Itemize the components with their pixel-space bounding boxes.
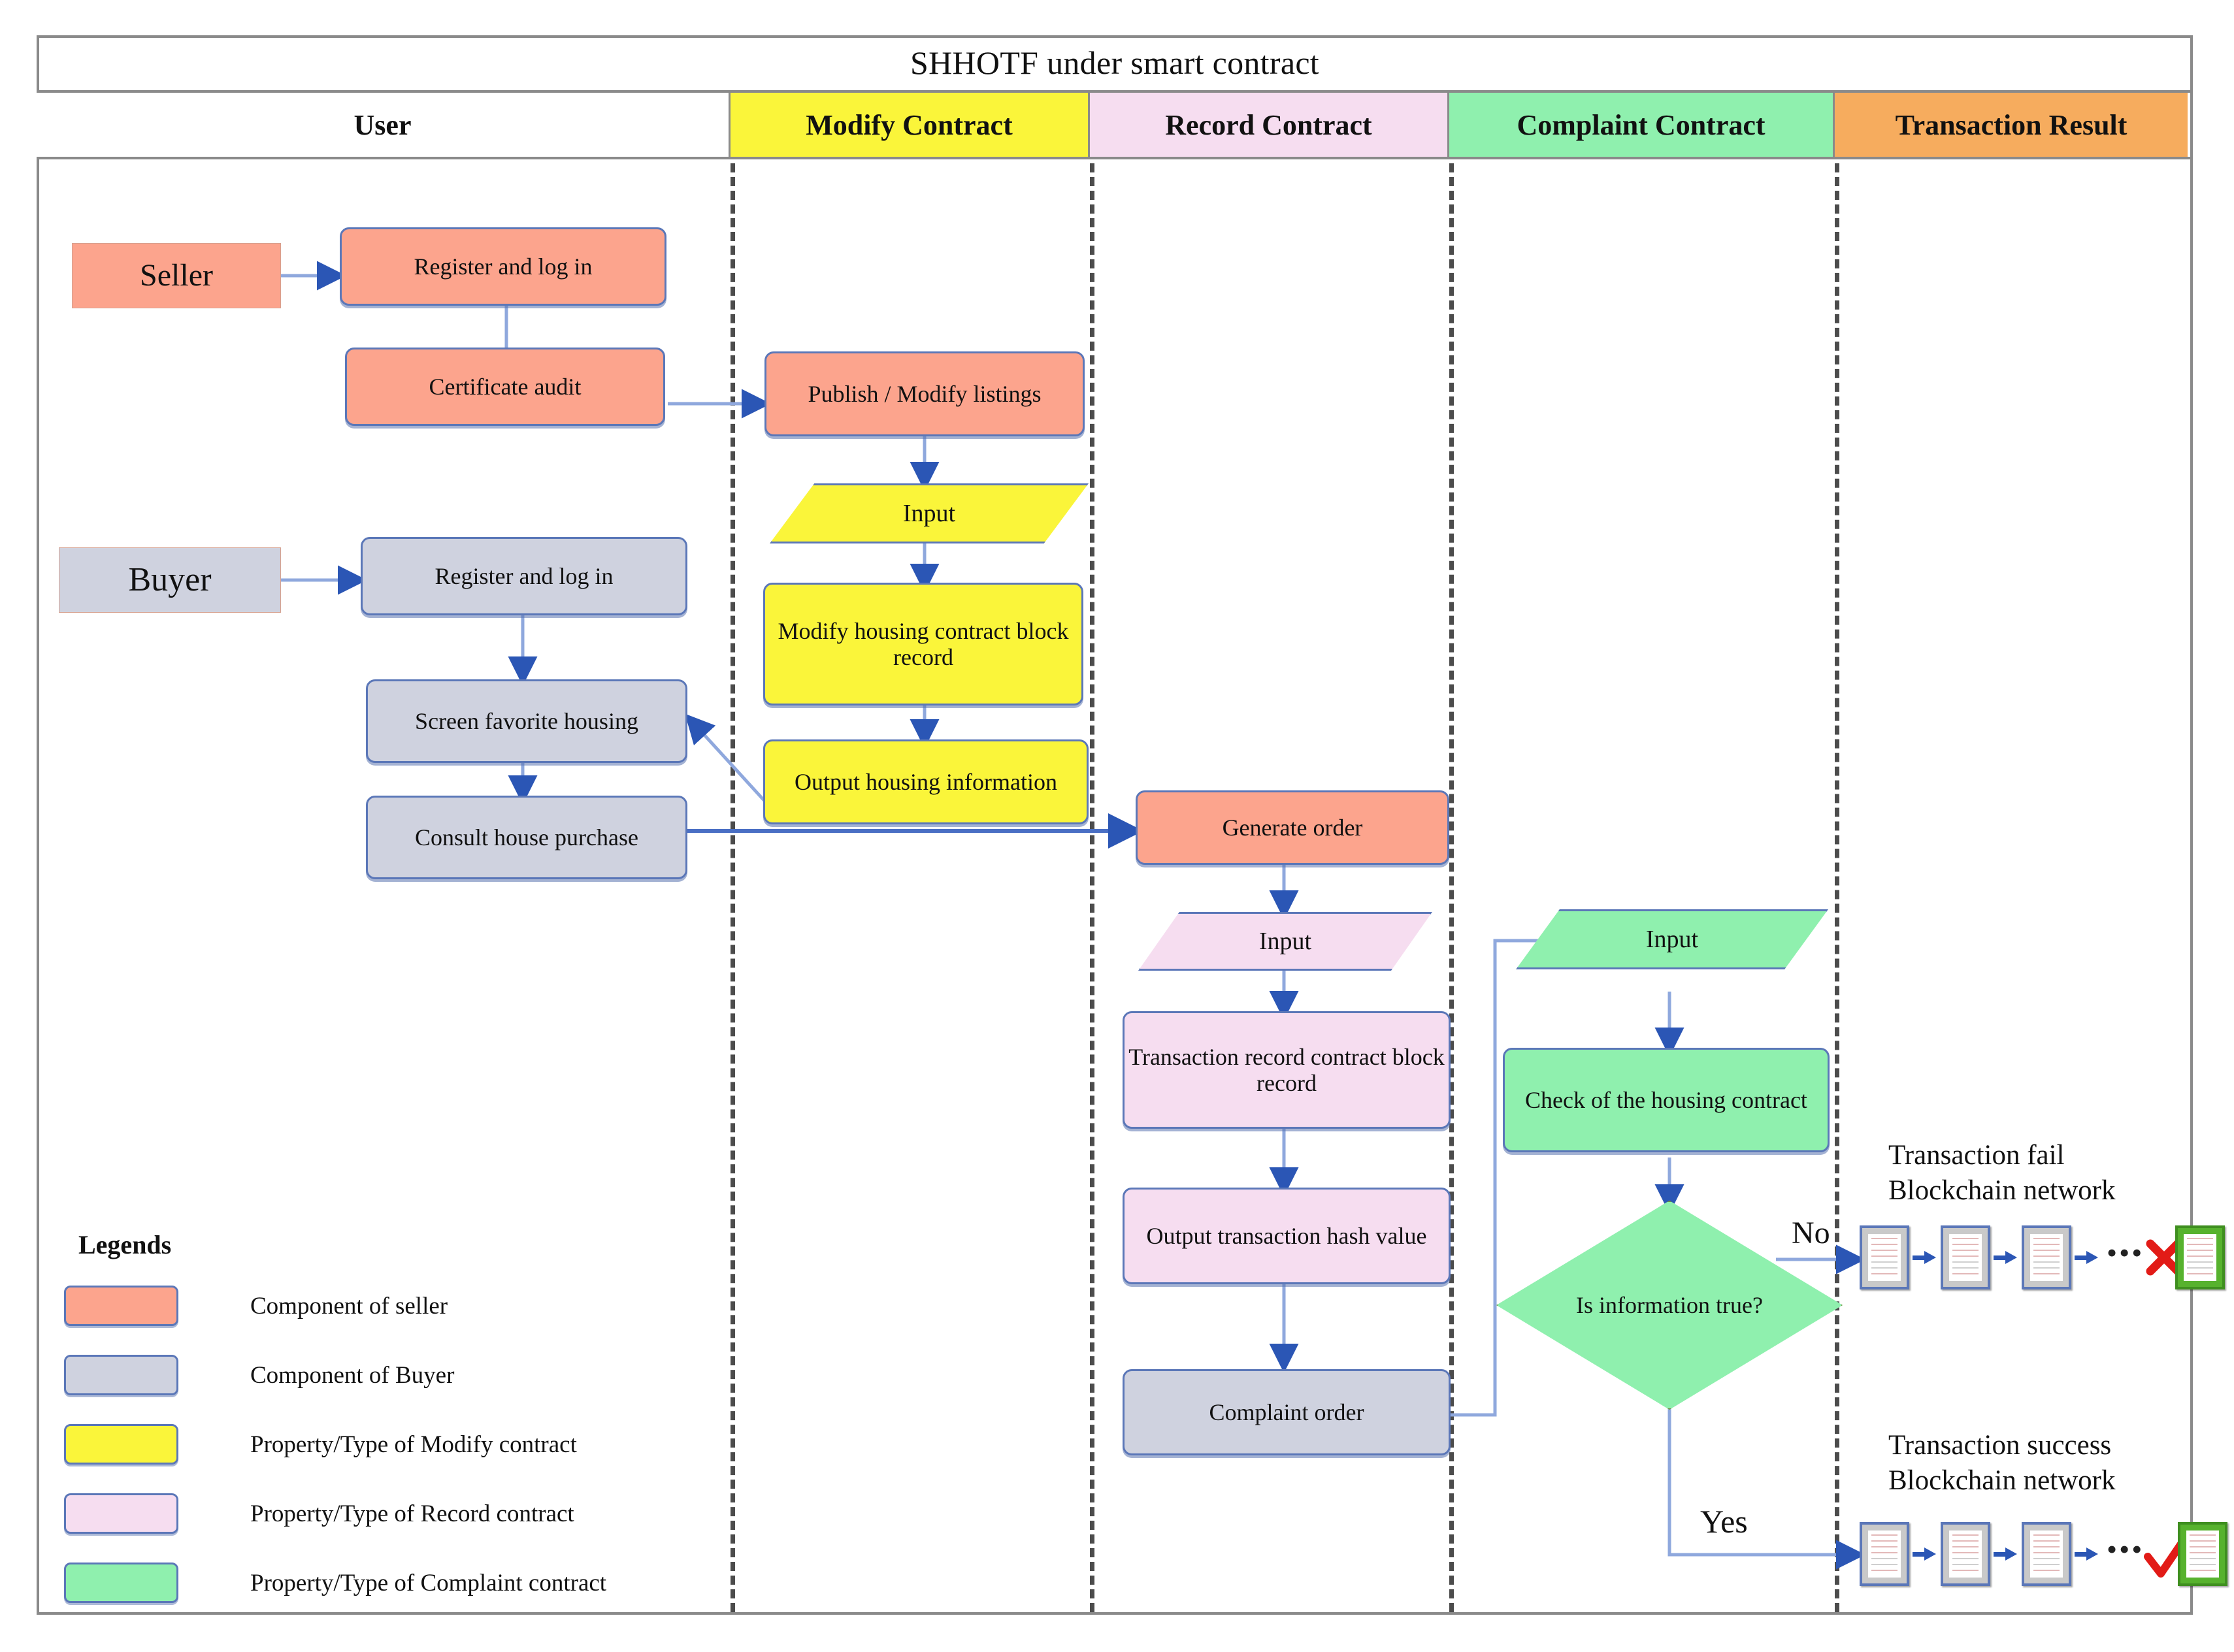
step-generate-order[interactable]: Generate order bbox=[1136, 790, 1449, 865]
chain-arrow-icon bbox=[1994, 1251, 2018, 1264]
legend-label-modify-contract: Property/Type of Modify contract bbox=[250, 1431, 577, 1459]
chain-arrow-icon bbox=[2075, 1547, 2099, 1561]
legend-title: Legends bbox=[78, 1229, 171, 1260]
step-consult-house-purchase[interactable]: Consult house purchase bbox=[366, 796, 687, 879]
legend-label-complaint-contract: Property/Type of Complaint contract bbox=[250, 1569, 606, 1597]
diagram-title-band: SHHOTF under smart contract bbox=[37, 35, 2193, 93]
lane-header-complaint-contract: Complaint Contract bbox=[1449, 93, 1835, 157]
step-output-transaction-hash-value[interactable]: Output transaction hash value bbox=[1123, 1188, 1451, 1284]
lane-header-modify-contract: Modify Contract bbox=[731, 93, 1090, 157]
block-icon-final bbox=[2175, 1225, 2225, 1289]
chain-arrow-icon bbox=[2075, 1251, 2099, 1264]
transaction-success-caption: Transaction success Blockchain network bbox=[1888, 1428, 2116, 1498]
block-icon-final bbox=[2178, 1522, 2227, 1586]
block-icon bbox=[1860, 1225, 1909, 1289]
block-icon bbox=[2022, 1225, 2071, 1289]
page-title: SHHOTF under smart contract bbox=[910, 44, 1319, 82]
transaction-success-caption-line2: Blockchain network bbox=[1888, 1463, 2116, 1498]
legend-label-record-contract: Property/Type of Record contract bbox=[250, 1500, 574, 1528]
flowchart-canvas: SHHOTF under smart contract User Modify … bbox=[0, 0, 2234, 1652]
transaction-success-caption-line1: Transaction success bbox=[1888, 1428, 2116, 1463]
step-buyer-register-login[interactable]: Register and log in bbox=[361, 537, 687, 615]
blockchain-chain-success: ••• bbox=[1860, 1522, 2227, 1586]
lane-divider-1 bbox=[731, 163, 735, 1612]
block-icon bbox=[1941, 1522, 1990, 1586]
legend-swatch-modify-contract bbox=[64, 1424, 178, 1465]
lane-header-user: User bbox=[37, 93, 731, 157]
step-seller-register-login[interactable]: Register and log in bbox=[340, 227, 666, 306]
legend-swatch-record-contract bbox=[64, 1493, 178, 1534]
legend-item-modify-contract: Property/Type of Modify contract bbox=[64, 1424, 577, 1465]
step-publish-modify-listings[interactable]: Publish / Modify listings bbox=[764, 351, 1085, 436]
lane-header-transaction-result: Transaction Result bbox=[1835, 93, 2188, 157]
step-transaction-record-contract-block-record[interactable]: Transaction record contract block record bbox=[1123, 1011, 1451, 1129]
legend-item-buyer: Component of Buyer bbox=[64, 1355, 454, 1395]
step-certificate-audit[interactable]: Certificate audit bbox=[345, 348, 665, 426]
step-screen-favorite-housing[interactable]: Screen favorite housing bbox=[366, 679, 687, 763]
legend-swatch-buyer bbox=[64, 1355, 178, 1395]
transaction-fail-caption-line2: Blockchain network bbox=[1888, 1173, 2116, 1208]
step-complaint-input[interactable]: Input bbox=[1516, 909, 1828, 969]
legend-swatch-seller bbox=[64, 1286, 178, 1326]
legend-swatch-complaint-contract bbox=[64, 1563, 178, 1603]
blockchain-chain-fail: ••• bbox=[1860, 1225, 2225, 1289]
lane-divider-4 bbox=[1835, 163, 1839, 1612]
lane-header-record-contract: Record Contract bbox=[1090, 93, 1449, 157]
step-complaint-order[interactable]: Complaint order bbox=[1123, 1369, 1451, 1455]
chain-arrow-icon bbox=[1913, 1547, 1937, 1561]
transaction-fail-caption-line1: Transaction fail bbox=[1888, 1138, 2116, 1173]
branch-label-yes: Yes bbox=[1700, 1502, 1748, 1540]
actor-seller[interactable]: Seller bbox=[72, 243, 281, 308]
step-modify-input[interactable]: Input bbox=[770, 483, 1089, 543]
step-modify-housing-contract-block-record[interactable]: Modify housing contract block record bbox=[763, 583, 1083, 705]
legend-item-seller: Component of seller bbox=[64, 1286, 448, 1326]
step-check-housing-contract[interactable]: Check of the housing contract bbox=[1503, 1048, 1830, 1152]
branch-label-no: No bbox=[1792, 1215, 1830, 1251]
legend-item-record-contract: Property/Type of Record contract bbox=[64, 1493, 574, 1534]
transaction-fail-caption: Transaction fail Blockchain network bbox=[1888, 1138, 2116, 1208]
block-icon bbox=[1941, 1225, 1990, 1289]
legend-label-seller: Component of seller bbox=[250, 1292, 448, 1320]
block-icon bbox=[2022, 1522, 2071, 1586]
chain-arrow-icon bbox=[1994, 1547, 2018, 1561]
block-icon bbox=[1860, 1522, 1909, 1586]
chain-arrow-icon bbox=[1913, 1251, 1937, 1264]
step-record-input[interactable]: Input bbox=[1138, 912, 1432, 971]
step-output-housing-information[interactable]: Output housing information bbox=[763, 739, 1089, 824]
lane-header-row: User Modify Contract Record Contract Com… bbox=[37, 93, 2193, 159]
lane-divider-2 bbox=[1090, 163, 1094, 1612]
actor-buyer[interactable]: Buyer bbox=[59, 547, 281, 613]
legend-item-complaint-contract: Property/Type of Complaint contract bbox=[64, 1563, 606, 1603]
legend-label-buyer: Component of Buyer bbox=[250, 1361, 454, 1389]
